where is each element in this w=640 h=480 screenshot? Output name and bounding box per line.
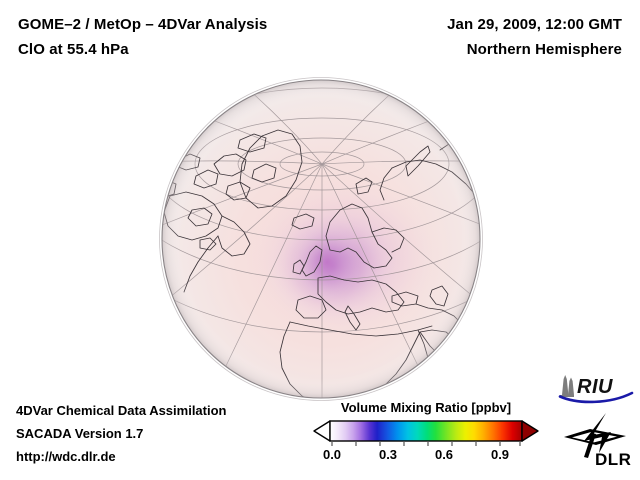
colorbar-ticks <box>332 441 520 446</box>
dlr-logo: DLR <box>562 411 636 469</box>
dlr-wordmark: DLR <box>595 450 631 469</box>
colorbar-ramp <box>330 421 522 441</box>
globe-disc <box>162 80 480 398</box>
colorbar: Volume Mixing Ratio [ppbv] <box>312 400 540 465</box>
field-background <box>162 80 480 398</box>
timestamp-label: Jan 29, 2009, 12:00 GMT <box>447 12 622 37</box>
dataset-title: GOME–2 / MetOp – 4DVar Analysis <box>18 12 267 37</box>
colorbar-left-cap <box>314 421 330 441</box>
header-left: GOME–2 / MetOp – 4DVar Analysis ClO at 5… <box>18 12 267 62</box>
globe-limb <box>162 80 480 398</box>
colorbar-tick-0: 0.0 <box>323 447 341 462</box>
colorbar-tick-3: 0.9 <box>491 447 509 462</box>
footer-text-block: 4DVar Chemical Data Assimilation SACADA … <box>16 399 227 468</box>
riu-tower-icon <box>560 375 574 397</box>
footer-line-2: SACADA Version 1.7 <box>16 422 227 445</box>
coastlines <box>152 130 486 408</box>
header-right: Jan 29, 2009, 12:00 GMT Northern Hemisph… <box>447 12 622 62</box>
field-enhancement-europe-halo <box>249 178 441 338</box>
colorbar-tick-1: 0.3 <box>379 447 397 462</box>
graticule-meridians <box>114 60 530 400</box>
colorbar-tick-2: 0.6 <box>435 447 453 462</box>
field-enhancement-core <box>293 224 361 300</box>
footer-url[interactable]: http://wdc.dlr.de <box>16 445 227 468</box>
colorbar-right-cap <box>522 421 538 441</box>
riu-logo: RIU <box>558 371 636 405</box>
colorbar-title: Volume Mixing Ratio [ppbv] <box>312 400 540 415</box>
species-level-label: ClO at 55.4 hPa <box>18 37 267 62</box>
riu-wordmark: RIU <box>577 376 613 398</box>
region-label: Northern Hemisphere <box>447 37 622 62</box>
footer-line-1: 4DVar Chemical Data Assimilation <box>16 399 227 422</box>
colorbar-tick-labels: 0.0 0.3 0.6 0.9 <box>312 447 540 465</box>
colorbar-graphic <box>312 420 540 446</box>
field-enhancement-europe <box>267 208 399 324</box>
globe-outer-ring <box>160 78 483 401</box>
limb-shading <box>162 80 480 398</box>
